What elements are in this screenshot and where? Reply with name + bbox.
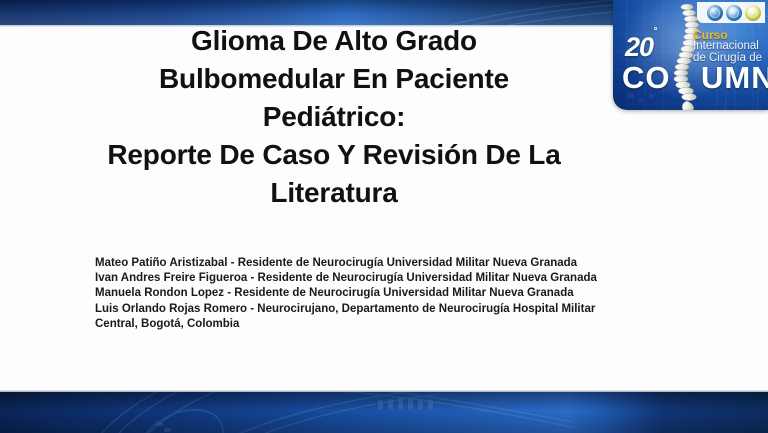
society-badge-icon: [726, 5, 742, 21]
bottom-decorative-band: [0, 392, 768, 433]
sccot-badge-icon: [707, 5, 723, 21]
logo-subtitle: Internacional de Cirugía de: [693, 41, 768, 64]
logo-ordinal-mark: °: [653, 26, 656, 37]
title-line-2: Bulbomedular En Paciente: [60, 60, 608, 98]
logo-word-co: CO: [622, 62, 671, 93]
title-line-1: Glioma De Alto Grado: [60, 22, 608, 60]
logo-subtitle-line-2: de Cirugía de: [693, 53, 768, 65]
page-title: Glioma De Alto Grado Bulbomedular En Pac…: [60, 22, 608, 212]
society-badge-row: [697, 2, 765, 23]
logo-edition-number: 20°: [625, 34, 656, 61]
logo-word-umna: UMNA: [701, 62, 768, 93]
title-line-4: Reporte De Caso Y Revisión De La: [60, 136, 608, 174]
title-line-3: Pediátrico:: [60, 98, 608, 136]
author-line-2: Ivan Andres Freire Figueroa - Residente …: [95, 271, 695, 286]
bottom-band-shade: [0, 392, 768, 433]
association-badge-icon: [745, 5, 761, 21]
title-line-5: Literatura: [60, 174, 608, 212]
logo-subtitle-line-1: Internacional: [693, 41, 768, 53]
author-list: Mateo Patiño Aristizabal - Residente de …: [95, 256, 695, 332]
author-line-1: Mateo Patiño Aristizabal - Residente de …: [95, 256, 695, 271]
logo-edition-digits: 20: [625, 32, 653, 62]
presentation-slide: Glioma De Alto Grado Bulbomedular En Pac…: [0, 0, 768, 433]
author-line-3: Manuela Rondon Lopez - Residente de Neur…: [95, 286, 695, 301]
author-line-5: Central, Bogotá, Colombia: [95, 317, 695, 332]
author-line-4: Luis Orlando Rojas Romero - Neurocirujan…: [95, 302, 695, 317]
